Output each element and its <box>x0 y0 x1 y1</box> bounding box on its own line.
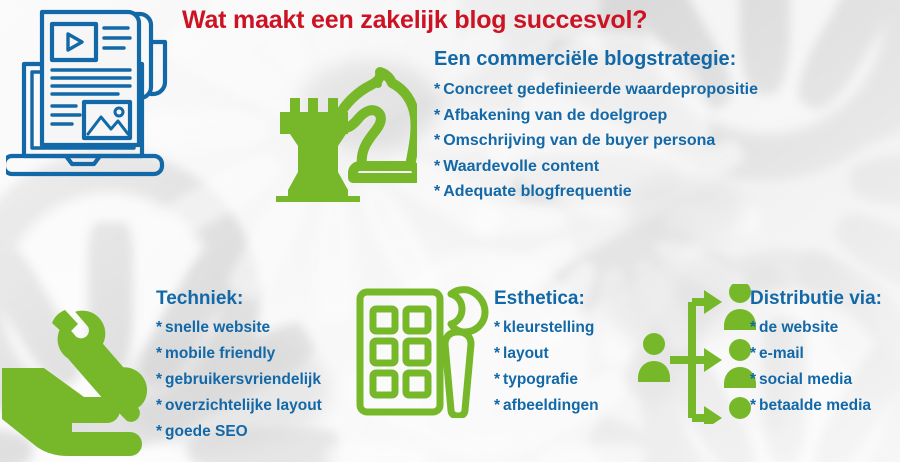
list-item-label: Waardevolle content <box>443 158 599 175</box>
list-item: *snelle website <box>156 315 322 341</box>
list-item: *overzichtelijke layout <box>156 393 322 419</box>
list-item-label: afbeeldingen <box>503 397 599 414</box>
block-strategie-heading: Een commerciële blogstrategie: <box>434 48 758 71</box>
list-item: *gebruikersvriendelijk <box>156 367 322 393</box>
list-item-label: gebruikersvriendelijk <box>165 371 321 388</box>
list-item-label: Adequate blogfrequentie <box>443 183 631 200</box>
block-esthetica-heading: Esthetica: <box>494 288 599 310</box>
bullet-star: * <box>434 183 440 200</box>
block-strategie: Een commerciële blogstrategie: *Concreet… <box>434 48 758 205</box>
paintbrush-shape <box>445 290 485 416</box>
list-item: *kleurstelling <box>494 315 599 341</box>
bullet-star: * <box>494 371 500 388</box>
list-item: *goede SEO <box>156 419 322 445</box>
block-esthetica: Esthetica: *kleurstelling *layout *typog… <box>494 288 599 419</box>
connector-lines <box>670 302 706 418</box>
list-item: *de website <box>750 315 882 341</box>
list-item: *afbeeldingen <box>494 393 599 419</box>
list-item-label: mobile friendly <box>165 345 275 362</box>
list-item-label: layout <box>503 345 549 362</box>
laptop-article-icon <box>6 2 178 182</box>
block-techniek: Techniek: *snelle website *mobile friend… <box>156 288 322 445</box>
list-item: *Adequate blogfrequentie <box>434 179 758 205</box>
list-item-label: social media <box>759 371 852 388</box>
page-title: Wat maakt een zakelijk blog succesvol? <box>182 6 647 35</box>
bullet-star: * <box>434 107 440 124</box>
list-item-label: overzichtelijke layout <box>165 397 322 414</box>
bullet-star: * <box>434 132 440 149</box>
list-item: *layout <box>494 341 599 367</box>
layout-grid-shape <box>360 292 440 412</box>
bullet-star: * <box>156 371 162 388</box>
list-item: *Waardevolle content <box>434 154 758 180</box>
person-source-shape <box>638 333 670 382</box>
bullet-star: * <box>750 397 756 414</box>
list-item-label: de website <box>759 319 838 336</box>
bullet-star: * <box>156 345 162 362</box>
bullet-star: * <box>494 319 500 336</box>
bullet-star: * <box>750 319 756 336</box>
list-item: *betaalde media <box>750 393 882 419</box>
layout-brush-icon <box>352 286 492 418</box>
list-item-label: kleurstelling <box>503 319 594 336</box>
list-item: *typografie <box>494 367 599 393</box>
chess-rook-shape <box>276 98 360 202</box>
arrow-heads <box>704 290 722 424</box>
block-techniek-list: *snelle website *mobile friendly *gebrui… <box>156 315 322 445</box>
list-item-label: betaalde media <box>759 397 871 414</box>
block-strategie-list: *Concreet gedefinieerde waardepropositie… <box>434 77 758 205</box>
block-distributie-heading: Distributie via: <box>750 288 882 310</box>
list-item: *Omschrijving van de buyer persona <box>434 128 758 154</box>
chess-pieces-icon <box>262 44 417 202</box>
list-item-label: e-mail <box>759 345 804 362</box>
bullet-star: * <box>156 397 162 414</box>
bullet-star: * <box>494 397 500 414</box>
infographic-canvas: Wat maakt een zakelijk blog succesvol? <box>0 0 900 462</box>
bullet-star: * <box>750 371 756 388</box>
bullet-star: * <box>156 423 162 440</box>
list-item-label: typografie <box>503 371 578 388</box>
bullet-star: * <box>750 345 756 362</box>
distribution-icon <box>636 284 758 424</box>
list-item: *Afbakening van de doelgroep <box>434 103 758 129</box>
list-item-label: Afbakening van de doelgroep <box>443 107 667 124</box>
list-item-label: Concreet gedefinieerde waardepropositie <box>443 81 758 98</box>
bullet-star: * <box>434 81 440 98</box>
block-distributie-list: *de website *e-mail *social media *betaa… <box>750 315 882 419</box>
block-esthetica-list: *kleurstelling *layout *typografie *afbe… <box>494 315 599 419</box>
list-item-label: Omschrijving van de buyer persona <box>443 132 715 149</box>
list-item: *e-mail <box>750 341 882 367</box>
bullet-star: * <box>434 158 440 175</box>
list-item: *mobile friendly <box>156 341 322 367</box>
list-item: *social media <box>750 367 882 393</box>
list-item-label: goede SEO <box>165 423 248 440</box>
block-techniek-heading: Techniek: <box>156 288 322 310</box>
bullet-star: * <box>494 345 500 362</box>
list-item: *Concreet gedefinieerde waardepropositie <box>434 77 758 103</box>
wrench-hand-icon <box>2 296 152 462</box>
list-item-label: snelle website <box>165 319 270 336</box>
block-distributie: Distributie via: *de website *e-mail *so… <box>750 288 882 419</box>
bullet-star: * <box>156 319 162 336</box>
